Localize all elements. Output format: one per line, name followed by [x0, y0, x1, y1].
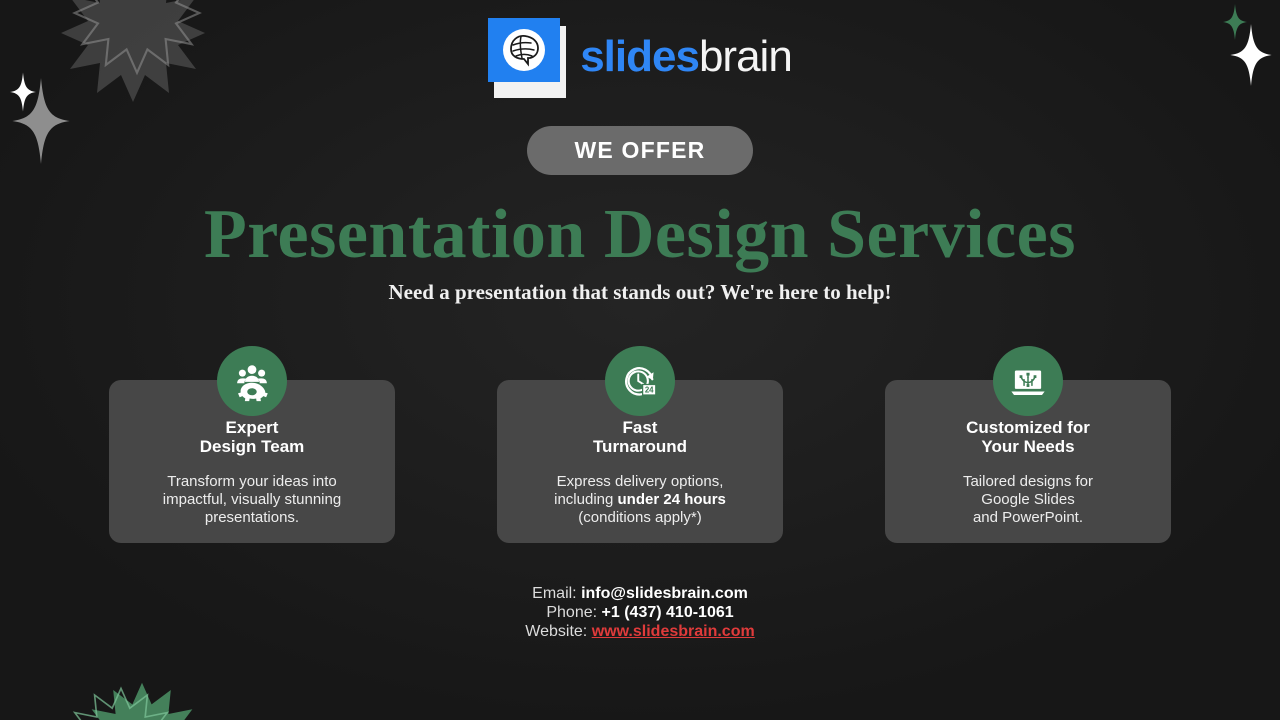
- page-title: Presentation Design Services: [0, 198, 1280, 272]
- feature-columns: Expert Design Team Transform your ideas …: [0, 346, 1280, 543]
- brand-logo[interactable]: slidesbrain: [0, 18, 1280, 96]
- clock-24-hours-icon: 24: [605, 346, 675, 416]
- page-subtitle: Need a presentation that stands out? We'…: [0, 280, 1280, 305]
- feature-card-title: Expert Design Team: [127, 418, 377, 457]
- starburst-bottom-left-outline-icon: [66, 684, 176, 720]
- feature-card-body: Transform your ideas into impactful, vis…: [127, 473, 377, 527]
- contact-phone-value[interactable]: +1 (437) 410-1061: [602, 604, 734, 621]
- feature-card-title: Customized for Your Needs: [903, 418, 1153, 457]
- feature-column-customized-for-your-needs: Customized for Your Needs Tailored desig…: [885, 346, 1171, 543]
- feature-card-body: Tailored designs for Google Slides and P…: [903, 473, 1153, 527]
- contact-block: Email: info@slidesbrain.com Phone: +1 (4…: [0, 584, 1280, 642]
- we-offer-badge: WE OFFER: [527, 126, 754, 175]
- contact-email-label: Email:: [532, 585, 576, 602]
- contact-phone-label: Phone:: [546, 604, 597, 621]
- team-gear-icon: [217, 346, 287, 416]
- brain-in-slide-icon: [488, 18, 566, 96]
- brand-wordmark: slidesbrain: [580, 35, 792, 79]
- starburst-bottom-left-icon: [82, 678, 202, 720]
- contact-phone-line: Phone: +1 (437) 410-1061: [0, 603, 1280, 622]
- contact-website-line: Website: www.slidesbrain.com: [0, 622, 1280, 641]
- brand-word-brain: brain: [699, 32, 792, 81]
- contact-website-link[interactable]: www.slidesbrain.com: [592, 623, 755, 640]
- contact-email-value[interactable]: info@slidesbrain.com: [581, 585, 748, 602]
- feature-column-fast-turnaround: 24 Fast Turnaround Express delivery opti…: [497, 346, 783, 543]
- laptop-design-icon: [993, 346, 1063, 416]
- svg-text:24: 24: [645, 386, 654, 395]
- contact-website-label: Website:: [525, 623, 587, 640]
- feature-card-title: Fast Turnaround: [515, 418, 765, 457]
- feature-column-expert-design-team: Expert Design Team Transform your ideas …: [109, 346, 395, 543]
- contact-email-line: Email: info@slidesbrain.com: [0, 584, 1280, 603]
- brand-word-slides: slides: [580, 32, 699, 81]
- slide-canvas: slidesbrain WE OFFER Presentation Design…: [0, 0, 1280, 720]
- feature-card-body: Express delivery options, including unde…: [515, 473, 765, 527]
